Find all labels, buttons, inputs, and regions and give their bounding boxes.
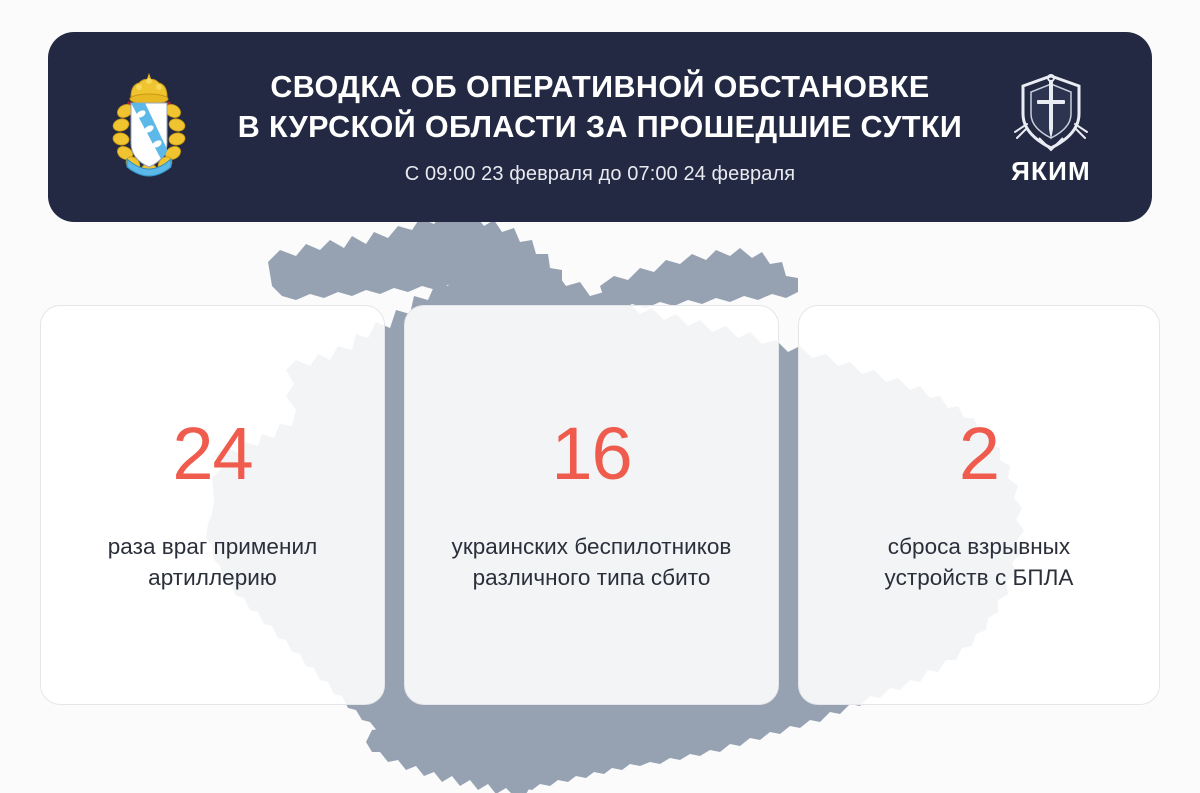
coat-of-arms-icon <box>74 67 224 187</box>
kursk-map-northeast-lobe <box>600 248 798 310</box>
crown-part <box>130 73 168 104</box>
organization-logo: ЯКИМ <box>976 70 1126 184</box>
kursk-map-north-lobe <box>268 210 562 300</box>
stat-label: украинских беспилотников различного типа… <box>452 531 732 593</box>
page-title: СВОДКА ОБ ОПЕРАТИВНОЙ ОБСТАНОВКЕ В КУРСК… <box>228 68 972 148</box>
stat-card-artillery: 24 раза враг применил артиллерию <box>40 305 385 705</box>
header-text-block: СВОДКА ОБ ОПЕРАТИВНОЙ ОБСТАНОВКЕ В КУРСК… <box>224 68 976 187</box>
stat-label: раза враг применил артиллерию <box>108 531 318 593</box>
stat-value: 16 <box>551 417 631 491</box>
stat-label: сброса взрывных устройств с БПЛА <box>885 531 1074 593</box>
stat-card-explosive-drops: 2 сброса взрывных устройств с БПЛА <box>798 305 1160 705</box>
stat-value: 2 <box>959 417 999 491</box>
stats-row: 24 раза враг применил артиллерию 16 укра… <box>40 305 1160 705</box>
stat-value: 24 <box>172 417 252 491</box>
logo-wordmark: ЯКИМ <box>1011 158 1091 184</box>
shield-sword-icon <box>1013 70 1089 156</box>
report-period: С 09:00 23 февраля до 07:00 24 февраля <box>228 163 972 186</box>
header-banner: СВОДКА ОБ ОПЕРАТИВНОЙ ОБСТАНОВКЕ В КУРСК… <box>48 32 1152 222</box>
stat-card-drones-downed: 16 украинских беспилотников различного т… <box>404 305 779 705</box>
